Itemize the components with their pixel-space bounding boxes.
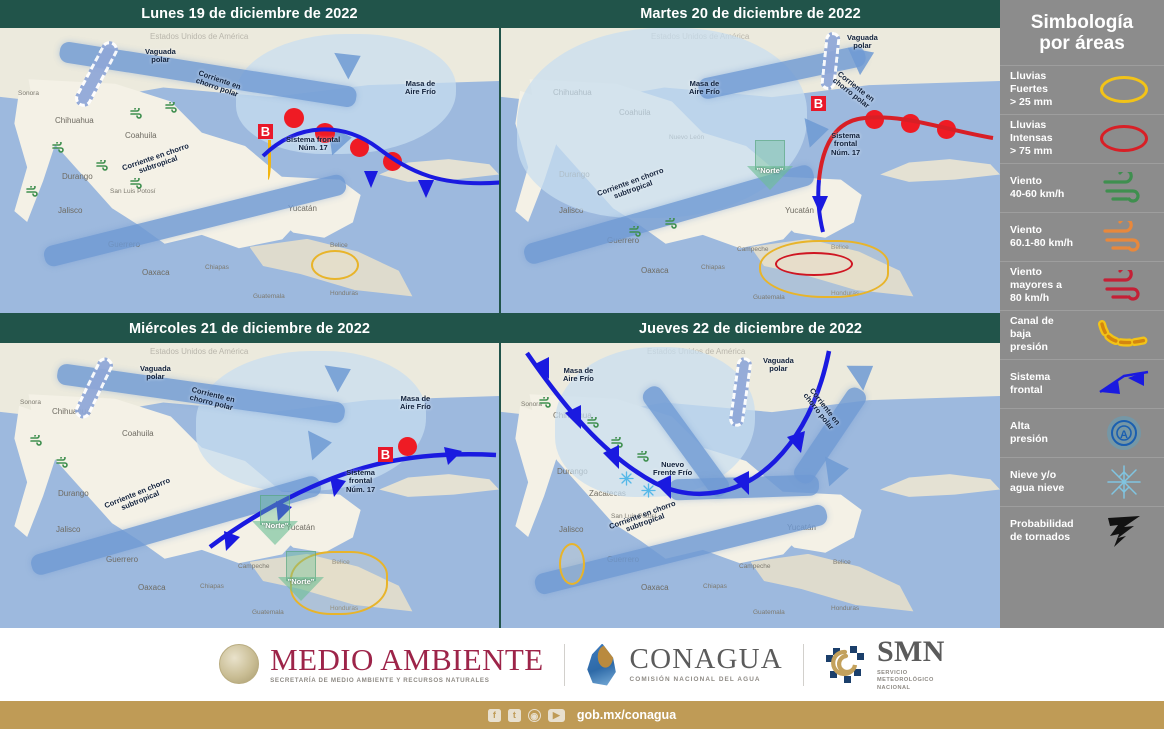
legend-label: Nieve y/oagua nieve xyxy=(1010,469,1094,495)
label-vaguada-polar: Vaguadapolar xyxy=(145,48,176,65)
legend-item-lluvias-intensas[interactable]: LluviasIntensas> 75 mm xyxy=(1000,114,1164,163)
low-pressure-marker: B xyxy=(811,96,826,111)
low-pressure-marker: B xyxy=(258,124,273,139)
wind-swirl-green-icon xyxy=(56,455,69,473)
panel-title-wednesday: Miércoles 21 de diciembre de 2022 xyxy=(0,315,499,343)
wind-swirl-green-icon xyxy=(665,216,678,234)
label-cold-air-mass: Masa deAire Frío xyxy=(689,80,720,97)
label-frontal-system: SistemafrontalNúm. 17 xyxy=(831,132,860,157)
logo-divider xyxy=(564,644,565,686)
low-pressure-marker: B xyxy=(378,447,393,462)
legend-title: Simbología por áreas xyxy=(1000,8,1164,65)
forecast-map-grid: Lunes 19 de diciembre de 2022 Estados Un… xyxy=(0,0,1000,628)
legend-label: Sistemafrontal xyxy=(1010,371,1094,397)
social-bar: f t ◉ ▶ gob.mx/conagua xyxy=(0,701,1164,729)
twitter-icon[interactable]: t xyxy=(508,709,521,722)
conagua-subtitle: COMISIÓN NACIONAL DEL AGUA xyxy=(630,677,783,683)
wind-swirl-green-icon xyxy=(52,140,65,158)
medio-ambiente-title: MEDIO AMBIENTE xyxy=(270,644,543,675)
wind-swirl-green-icon xyxy=(130,106,143,124)
wind-swirl-green-icon xyxy=(165,100,178,118)
legend-label: Probabilidadde tornados xyxy=(1010,518,1094,544)
website-url[interactable]: gob.mx/conagua xyxy=(577,708,676,722)
label-cold-air-mass: Masa deAire Frío xyxy=(400,395,431,412)
geo-label: Guatemala xyxy=(753,294,785,301)
geo-label: Honduras xyxy=(831,605,859,612)
conagua-logo: CONAGUA COMISIÓN NACIONAL DEL AGUA xyxy=(585,644,783,686)
footer-logos: MEDIO AMBIENTE SECRETARÍA DE MEDIO AMBIE… xyxy=(0,628,1164,701)
intense-rain-area xyxy=(775,252,853,276)
wind-swirl-orange-icon xyxy=(1094,217,1154,257)
map-wednesday[interactable]: Estados Unidos de América Chihuahua Coah… xyxy=(0,343,499,628)
geo-label: Oaxaca xyxy=(641,266,669,275)
wind-swirl-green-icon xyxy=(96,158,109,176)
geo-label: Oaxaca xyxy=(142,268,170,277)
wind-swirl-green-icon xyxy=(629,224,642,242)
geo-label: Guerrero xyxy=(106,555,138,564)
legend-label: LluviasFuertes> 25 mm xyxy=(1010,70,1094,108)
heavy-rain-area xyxy=(311,250,359,280)
cold-front-monday xyxy=(258,114,499,204)
panel-title-monday: Lunes 19 de diciembre de 2022 xyxy=(0,0,499,28)
legend-label: Vientomayores a80 km/h xyxy=(1010,266,1094,304)
tornado-icon xyxy=(1094,511,1154,551)
geo-label: Jalisco xyxy=(56,525,80,534)
water-drop-eagle-icon xyxy=(585,644,619,686)
low-pressure-trough-icon xyxy=(1094,315,1154,355)
geo-label: Oaxaca xyxy=(138,583,166,592)
label-cold-air-mass: Masa deAire Frío xyxy=(563,367,594,384)
legend-label: Altapresión xyxy=(1010,420,1094,446)
geo-label: Guatemala xyxy=(252,609,284,616)
medio-ambiente-logo: MEDIO AMBIENTE SECRETARÍA DE MEDIO AMBIE… xyxy=(219,644,543,684)
label-norte: "Norte" xyxy=(276,577,326,586)
legend-item-lluvias-fuertes[interactable]: LluviasFuertes> 25 mm xyxy=(1000,65,1164,114)
legend-item-alta-presion[interactable]: Altapresión A xyxy=(1000,408,1164,457)
medio-ambiente-subtitle: SECRETARÍA DE MEDIO AMBIENTE Y RECURSOS … xyxy=(270,678,543,684)
svg-text:A: A xyxy=(1120,429,1128,441)
legend-title-line1: Simbología xyxy=(1006,12,1158,33)
map-monday[interactable]: Estados Unidos de América Sonora Chihuah… xyxy=(0,28,499,313)
legend-label: Viento40-60 km/h xyxy=(1010,175,1094,201)
panel-title-tuesday: Martes 20 de diciembre de 2022 xyxy=(501,0,1000,28)
label-vaguada-polar: Vaguadapolar xyxy=(140,365,171,382)
legend-title-line2: por áreas xyxy=(1006,33,1158,54)
legend-label: Viento60.1-80 km/h xyxy=(1010,224,1094,250)
wind-swirl-green-icon xyxy=(30,433,43,451)
smn-title: SMN xyxy=(877,637,945,667)
ellipse-yellow-icon xyxy=(1094,70,1154,110)
ellipse-red-icon xyxy=(1094,119,1154,159)
smn-logo: SMN SERVICIOMETEOROLÓGICONACIONAL xyxy=(824,637,945,693)
facebook-icon[interactable]: f xyxy=(488,709,501,722)
forecast-panel-monday[interactable]: Lunes 19 de diciembre de 2022 Estados Un… xyxy=(0,0,499,313)
instagram-icon[interactable]: ◉ xyxy=(528,709,541,722)
map-thursday[interactable]: Estados Unidos de América Chihuahua Sono… xyxy=(501,343,1000,628)
geo-label: Chiapas xyxy=(701,264,725,271)
high-pressure-icon: A xyxy=(1094,413,1154,453)
conagua-title: CONAGUA xyxy=(630,645,783,674)
smn-subtitle: SERVICIOMETEOROLÓGICONACIONAL xyxy=(877,670,945,693)
label-frontal-system: Sistema frontalNúm. 17 xyxy=(286,136,340,153)
label-cold-air-mass: Masa deAire Frío xyxy=(405,80,436,97)
label-frontal-system: SistemafrontalNúm. 17 xyxy=(346,469,375,494)
legend-item-viento-60-80[interactable]: Viento60.1-80 km/h xyxy=(1000,212,1164,261)
landmass-central-america xyxy=(751,554,921,628)
geo-label: Chiapas xyxy=(703,583,727,590)
weather-forecast-infographic: Lunes 19 de diciembre de 2022 Estados Un… xyxy=(0,0,1164,729)
legend-item-tornados[interactable]: Probabilidadde tornados xyxy=(1000,506,1164,555)
forecast-panel-tuesday[interactable]: Martes 20 de diciembre de 2022 Estados U… xyxy=(501,0,1000,313)
geo-label: Chiapas xyxy=(205,264,229,271)
legend-item-nieve[interactable]: Nieve y/oagua nieve xyxy=(1000,457,1164,506)
landmass-cuba xyxy=(880,474,1000,503)
heavy-rain-area xyxy=(559,543,585,585)
label-new-cold-front: NuevoFrente Frío xyxy=(653,461,692,478)
legend-item-viento-mayores-80[interactable]: Vientomayores a80 km/h xyxy=(1000,261,1164,310)
wind-swirl-green-icon xyxy=(1094,168,1154,208)
forecast-panel-thursday[interactable]: Jueves 22 de diciembre de 2022 Estados U… xyxy=(501,315,1000,628)
youtube-icon[interactable]: ▶ xyxy=(548,709,565,722)
snowflake-icon xyxy=(1094,462,1154,502)
label-vaguada-polar: Vaguadapolar xyxy=(847,34,878,51)
legend-item-viento-40-60[interactable]: Viento40-60 km/h xyxy=(1000,163,1164,212)
wind-swirl-green-icon xyxy=(26,184,39,202)
label-vaguada-polar: Vaguadapolar xyxy=(763,357,794,374)
forecast-panel-wednesday[interactable]: Miércoles 21 de diciembre de 2022 Estado… xyxy=(0,315,499,628)
national-seal-icon xyxy=(219,644,259,684)
cold-front-wednesday xyxy=(198,439,498,569)
geo-label: Oaxaca xyxy=(641,583,669,592)
map-tuesday[interactable]: Estados Unidos de América Chihuahua Coah… xyxy=(501,28,1000,313)
geo-label: Guatemala xyxy=(753,609,785,616)
cold-front-icon xyxy=(1094,364,1154,404)
aztec-spiral-icon xyxy=(824,643,866,685)
legend-panel: Simbología por áreas LluviasFuertes> 25 … xyxy=(1000,0,1164,628)
label-norte: "Norte" xyxy=(250,521,300,530)
legend-item-sistema-frontal[interactable]: Sistemafrontal xyxy=(1000,359,1164,408)
panel-title-thursday: Jueves 22 de diciembre de 2022 xyxy=(501,315,1000,343)
geo-label: Jalisco xyxy=(58,206,82,215)
label-norte: "Norte" xyxy=(745,166,795,175)
logo-divider xyxy=(803,644,804,686)
legend-item-canal-baja-presion[interactable]: Canal debajapresión xyxy=(1000,310,1164,359)
wind-swirl-red-icon xyxy=(1094,266,1154,306)
geo-label: Honduras xyxy=(330,290,358,297)
geo-label: Guatemala xyxy=(253,293,285,300)
geo-label: Chiapas xyxy=(200,583,224,590)
legend-label: Canal debajapresión xyxy=(1010,315,1094,353)
legend-label: LluviasIntensas> 75 mm xyxy=(1010,119,1094,157)
